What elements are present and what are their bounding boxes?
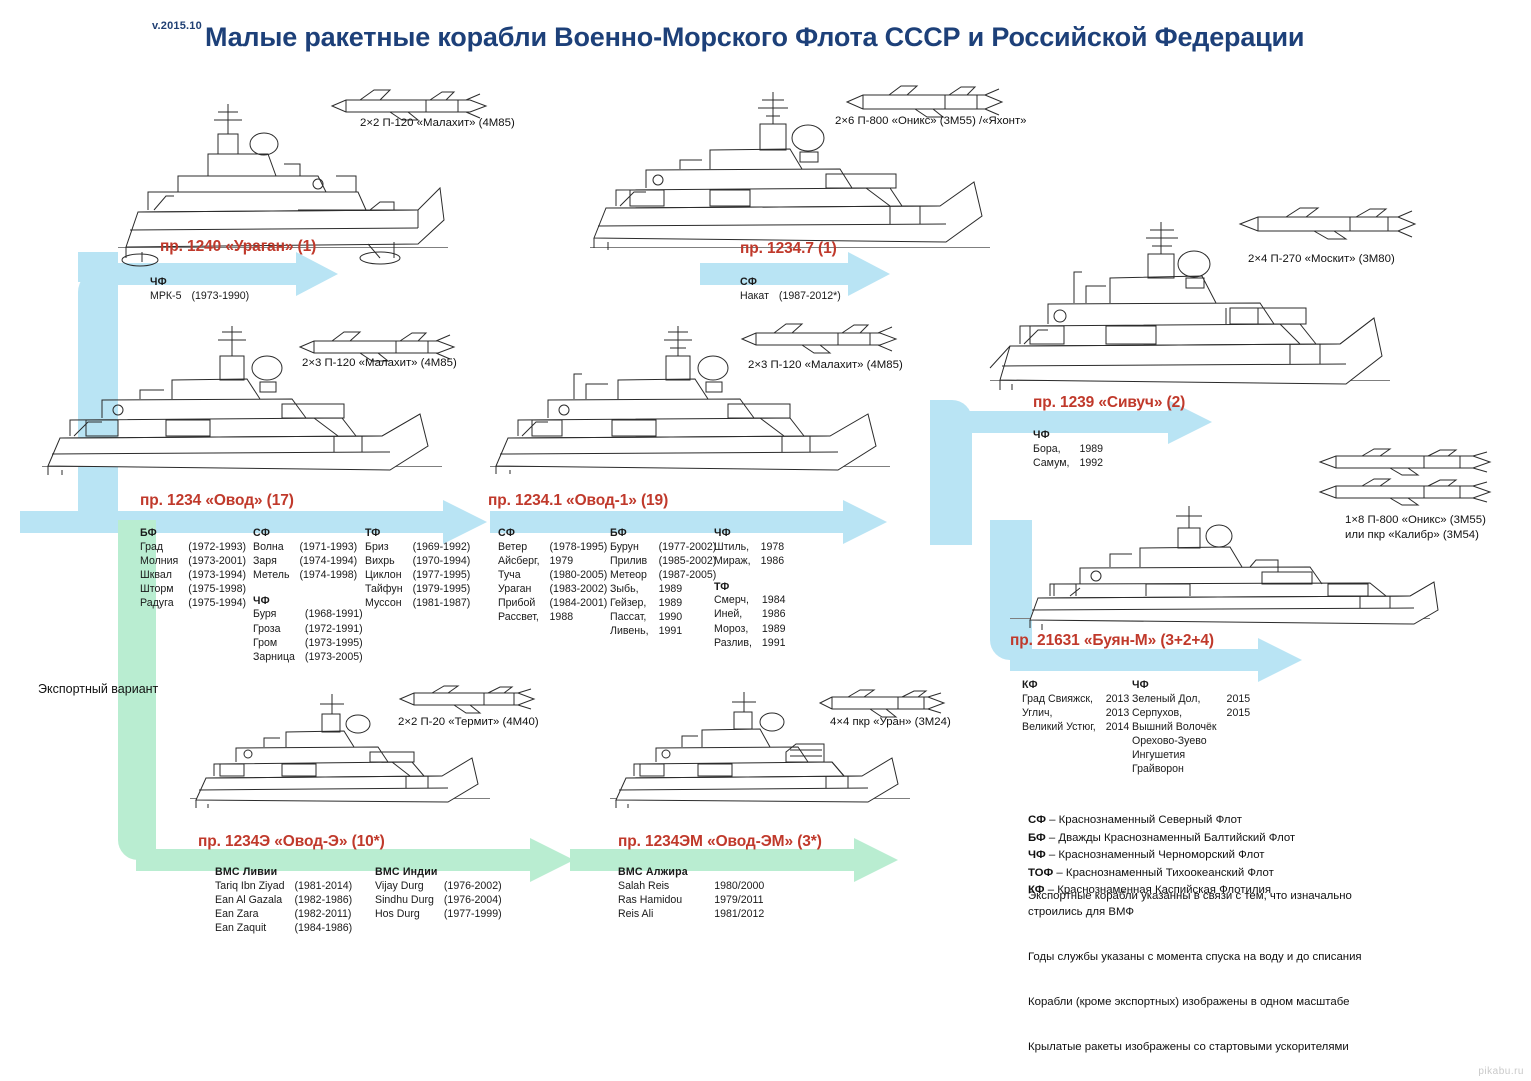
unit-name: Туча: [498, 569, 550, 583]
legend-row: ЧФ – Краснознаменный Черноморский Флот: [1028, 847, 1295, 865]
fleet-group: СФ Накат (1987-2012*): [740, 276, 841, 304]
unit-years: 1978: [761, 541, 785, 555]
unit-years: (1974-1994): [299, 555, 357, 569]
fleet-name: БФ: [610, 527, 714, 541]
unit-table: Буря(1968-1991) Гроза(1972-1991) Гром(19…: [253, 608, 363, 664]
unit-table: Град Свияжск,2013 Углич,2013 Великий Уст…: [1022, 693, 1129, 735]
unit-name: Рассвет,: [498, 611, 550, 625]
unit-years: 1989: [762, 623, 786, 637]
unit-name: Зеленый Дол,: [1132, 693, 1227, 707]
unit-name: Град: [140, 541, 188, 555]
fleet-name: СФ: [253, 527, 365, 541]
unit-name: Ливень,: [610, 625, 659, 639]
table-row: Вихрь(1970-1994): [365, 555, 470, 569]
unit-name: Sindhu Durg: [375, 894, 444, 908]
unit-years: 1981/2012: [714, 908, 764, 922]
fleet-column: СФ Ветер(1978-1995) Айсберг,1979 Туча(19…: [498, 527, 610, 651]
fleet-column: ЧФ Зеленый Дол,2015 Серпухов,2015 Вышний…: [1132, 679, 1242, 777]
project-label-1234-1: пр. 1234.1 «Овод-1» (19): [488, 492, 668, 510]
table-row: Тайфун(1979-1995): [365, 583, 470, 597]
fleet-table-1234em: ВМС Алжира Salah Reis1980/2000 Ras Hamid…: [618, 866, 764, 922]
unit-name: Метеор: [610, 569, 659, 583]
unit-years: (1984-2001): [550, 597, 608, 611]
table-row: Salah Reis1980/2000: [618, 880, 764, 894]
fleet-name: ЧФ: [1033, 429, 1103, 443]
unit-years: 1986: [762, 608, 786, 622]
unit-years: (1975-1998): [188, 583, 246, 597]
table-row: Шторм(1975-1998): [140, 583, 246, 597]
table-row: Ингушетия: [1132, 749, 1250, 763]
fleet-group: ЧФ Бора,1989 Самум,1992: [1033, 429, 1103, 471]
missile-icon-uran-1234em: [818, 688, 948, 718]
armament-label-1234: 2×3 П-120 «Малахит» (4М85): [302, 356, 457, 371]
table-row: Мороз,1989: [714, 623, 785, 637]
unit-name: Пассат,: [610, 611, 659, 625]
legend-row: ТОФ – Краснознаменный Тихоокеанский Флот: [1028, 865, 1295, 883]
fleet-table-1234-1: СФ Ветер(1978-1995) Айсберг,1979 Туча(19…: [498, 527, 814, 651]
page-title: Малые ракетные корабли Военно-Морского Ф…: [205, 22, 1304, 53]
fleet-group: ВМС Алжира Salah Reis1980/2000 Ras Hamid…: [618, 866, 764, 922]
missile-icon-p270-1239: [1238, 206, 1418, 240]
unit-name: Буря: [253, 608, 305, 622]
table-row: Ean Zaquit(1984-1986): [215, 922, 352, 936]
unit-years: (1978-1995): [550, 541, 608, 555]
table-row: Серпухов,2015: [1132, 707, 1250, 721]
unit-years: (1982-2011): [294, 908, 352, 922]
unit-years: (1976-2004): [444, 894, 502, 908]
legend-abbr: ТОФ: [1028, 867, 1053, 879]
table-row: Туча(1980-2005): [498, 569, 607, 583]
fleet-name: КФ: [1022, 679, 1132, 693]
missile-icon-p120-1234-1: [740, 322, 900, 354]
unit-name: Грайворон: [1132, 763, 1227, 777]
unit-name: Ean Zaquit: [215, 922, 294, 936]
legend-row: СФ – Краснознаменный Северный Флот: [1028, 812, 1295, 830]
export-variant-label: Экспортный вариант: [38, 682, 158, 696]
unit-years: 1989: [1079, 443, 1103, 457]
unit-name: Иней,: [714, 608, 762, 622]
unit-years: 2015: [1227, 693, 1251, 707]
unit-years: 1992: [1079, 457, 1103, 471]
unit-name: Гроза: [253, 623, 305, 637]
unit-years: [1227, 749, 1251, 763]
unit-years: 1984: [762, 594, 786, 608]
table-row: Орехово-Зуево: [1132, 735, 1250, 749]
missile-icon-p20-1234e: [398, 684, 538, 714]
legend-abbr: ЧФ: [1028, 849, 1046, 861]
fleet-group: ЧФ МРК-5 (1973-1990): [150, 276, 249, 304]
project-label-1234em: пр. 1234ЭМ «Овод-ЭМ» (3*): [618, 833, 822, 851]
table-row: Бриз(1969-1992): [365, 541, 470, 555]
unit-years: [1227, 763, 1251, 777]
table-row: Шквал(1973-1994): [140, 569, 246, 583]
table-row: МРК-5 (1973-1990): [150, 290, 249, 304]
unit-years: (1980-2005): [550, 569, 608, 583]
project-label-21631: пр. 21631 «Буян-М» (3+2+4): [1010, 632, 1214, 650]
unit-years: 1991: [762, 637, 786, 651]
unit-years: (1971-1993): [299, 541, 357, 555]
unit-table: Vijay Durg(1976-2002) Sindhu Durg(1976-2…: [375, 880, 502, 922]
table-row: Заря(1974-1994): [253, 555, 357, 569]
unit-name: Гром: [253, 637, 305, 651]
unit-name: Гейзер,: [610, 597, 659, 611]
unit-name: Тайфун: [365, 583, 413, 597]
table-row: Ean Zara(1982-2011): [215, 908, 352, 922]
missile-icon-kalibr-bottom-21631: [1318, 478, 1493, 506]
table-row: Буря(1968-1991): [253, 608, 363, 622]
unit-years: (1973-1994): [188, 569, 246, 583]
table-row: Смерч,1984: [714, 594, 785, 608]
fleet-column: ВМС Индии Vijay Durg(1976-2002) Sindhu D…: [375, 866, 535, 936]
armament-label-21631: 1×8 П-800 «Оникс» (3М55) или пкр «Калибр…: [1345, 513, 1486, 542]
unit-years: (1973-2001): [188, 555, 246, 569]
table-row: Метеор(1987-2005): [610, 569, 716, 583]
unit-name: Волна: [253, 541, 299, 555]
table-row: Гром(1973-1995): [253, 637, 363, 651]
unit-table: МРК-5 (1973-1990): [150, 290, 249, 304]
table-row: Мираж,1986: [714, 555, 784, 569]
table-row: Вышний Волочёк: [1132, 721, 1250, 735]
table-row: Зеленый Дол,2015: [1132, 693, 1250, 707]
table-row: Град(1972-1993): [140, 541, 246, 555]
unit-name: Прилив: [610, 555, 659, 569]
poster-canvas: v.2015.10 Малые ракетные корабли Военно-…: [0, 0, 1531, 1081]
project-label-1239: пр. 1239 «Сивуч» (2): [1033, 394, 1185, 412]
table-row: Волна(1971-1993): [253, 541, 357, 555]
unit-years: 2014: [1106, 721, 1130, 735]
fleet-name: ЧФ: [150, 276, 249, 290]
note-item: Крылатые ракеты изображены со стартовыми…: [1028, 1039, 1383, 1055]
missile-icon-kalibr-top-21631: [1318, 448, 1493, 476]
unit-years: (1983-2002): [550, 583, 608, 597]
table-row: Штиль,1978: [714, 541, 784, 555]
unit-table: Salah Reis1980/2000 Ras Hamidou1979/2011…: [618, 880, 764, 922]
fleet-column: КФ Град Свияжск,2013 Углич,2013 Великий …: [1022, 679, 1132, 777]
unit-table: Бриз(1969-1992) Вихрь(1970-1994) Циклон(…: [365, 541, 470, 611]
unit-name: Углич,: [1022, 707, 1106, 721]
unit-years: 1979: [550, 555, 608, 569]
unit-name: Орехово-Зуево: [1132, 735, 1227, 749]
table-row: Ean Al Gazala(1982-1986): [215, 894, 352, 908]
table-row: Рассвет,1988: [498, 611, 607, 625]
unit-years: (1969-1992): [413, 541, 471, 555]
fleet-table-1240: ЧФ МРК-5 (1973-1990): [150, 276, 249, 304]
table-row: Циклон(1977-1995): [365, 569, 470, 583]
fleet-table-1239: ЧФ Бора,1989 Самум,1992: [1033, 429, 1103, 471]
fleet-name: БФ: [140, 527, 253, 541]
table-row: Грайворон: [1132, 763, 1250, 777]
unit-name: Радуга: [140, 597, 188, 611]
unit-name: Vijay Durg: [375, 880, 444, 894]
fleet-table-1234-7: СФ Накат (1987-2012*): [740, 276, 841, 304]
unit-years: [1227, 721, 1251, 735]
legend-abbr: БФ: [1028, 832, 1046, 844]
table-row: Бора,1989: [1033, 443, 1103, 457]
unit-name: Salah Reis: [618, 880, 714, 894]
unit-years: 1986: [761, 555, 785, 569]
armament-label-1234e: 2×2 П-20 «Термит» (4М40): [398, 715, 539, 730]
unit-years: (1987-2012*): [779, 290, 841, 304]
unit-years: 2013: [1106, 707, 1130, 721]
unit-years: (1977-1995): [413, 569, 471, 583]
unit-name: Молния: [140, 555, 188, 569]
table-row: Иней,1986: [714, 608, 785, 622]
unit-name: Reis Ali: [618, 908, 714, 922]
unit-table: Смерч,1984 Иней,1986 Мороз,1989 Разлив,1…: [714, 594, 785, 650]
fleet-name: ЧФ: [253, 595, 365, 609]
table-row: Ураган(1983-2002): [498, 583, 607, 597]
unit-table: Волна(1971-1993) Заря(1974-1994) Метель(…: [253, 541, 357, 583]
unit-years: 1989: [659, 583, 717, 597]
project-label-1234-7: пр. 1234.7 (1): [740, 240, 837, 258]
fleet-name: ВМС Алжира: [618, 866, 764, 880]
unit-table: Зеленый Дол,2015 Серпухов,2015 Вышний Во…: [1132, 693, 1250, 778]
table-row: Reis Ali1981/2012: [618, 908, 764, 922]
unit-name: Прибой: [498, 597, 550, 611]
unit-name: Мороз,: [714, 623, 762, 637]
unit-table: Накат (1987-2012*): [740, 290, 841, 304]
fleet-name: ТФ: [365, 527, 475, 541]
unit-name: Разлив,: [714, 637, 762, 651]
unit-years: 1979/2011: [714, 894, 764, 908]
unit-name: Накат: [740, 290, 779, 304]
table-row: Гейзер,1989: [610, 597, 716, 611]
project-label-1234e: пр. 1234Э «Овод-Э» (10*): [198, 833, 385, 851]
unit-name: Самум,: [1033, 457, 1079, 471]
project-label-1240: пр. 1240 «Ураган» (1): [160, 238, 316, 256]
unit-years: (1981-1987): [413, 597, 471, 611]
unit-name: Ингушетия: [1132, 749, 1227, 763]
unit-name: Град Свияжск,: [1022, 693, 1106, 707]
unit-years: (1979-1995): [413, 583, 471, 597]
unit-years: 1980/2000: [714, 880, 764, 894]
unit-years: [1227, 735, 1251, 749]
armament-label-1239: 2×4 П-270 «Москит» (3М80): [1248, 252, 1395, 267]
armament-label-1234-7: 2×6 П-800 «Оникс» (3М55) /«Яхонт»: [835, 114, 1027, 129]
fleet-column: БФ Бурун(1977-2002) Прилив(1985-2002) Ме…: [610, 527, 714, 651]
table-row: Молния(1973-2001): [140, 555, 246, 569]
armament-line-2: или пкр «Калибр» (3М54): [1345, 528, 1486, 543]
table-row: Зыбь,1989: [610, 583, 716, 597]
table-row: Vijay Durg(1976-2002): [375, 880, 502, 894]
table-row: Бурун(1977-2002): [610, 541, 716, 555]
ship-drawing-1239: [990, 218, 1390, 390]
armament-line-1: 1×8 П-800 «Оникс» (3М55): [1345, 513, 1486, 528]
unit-name: Зыбь,: [610, 583, 659, 597]
armament-label-1234em: 4×4 пкр «Уран» (3М24): [830, 715, 951, 730]
note-item: Годы службы указаны с момента спуска на …: [1028, 949, 1383, 965]
table-row: Ras Hamidou1979/2011: [618, 894, 764, 908]
unit-name: Зарница: [253, 651, 305, 665]
table-row: Ливень,1991: [610, 625, 716, 639]
table-row: Метель(1974-1998): [253, 569, 357, 583]
table-row: Гроза(1972-1991): [253, 623, 363, 637]
unit-name: Смерч,: [714, 594, 762, 608]
unit-years: (1973-2005): [305, 651, 363, 665]
table-row: Прибой(1984-2001): [498, 597, 607, 611]
note-item: Экспортные корабли указанны в связи с те…: [1028, 888, 1383, 920]
unit-name: Ветер: [498, 541, 550, 555]
unit-years: (1970-1994): [413, 555, 471, 569]
armament-label-1234-1: 2×3 П-120 «Малахит» (4М85): [748, 358, 903, 373]
unit-years: (1987-2005): [659, 569, 717, 583]
table-row: Ветер(1978-1995): [498, 541, 607, 555]
unit-years: (1984-1986): [294, 922, 352, 936]
unit-years: (1974-1998): [299, 569, 357, 583]
fleet-column: ЧФ Штиль,1978 Мираж,1986 ТФ Смерч,1984 И…: [714, 527, 814, 651]
unit-years: 2013: [1106, 693, 1130, 707]
unit-years: (1972-1991): [305, 623, 363, 637]
fleet-name: ЧФ: [1132, 679, 1242, 693]
unit-table: Бора,1989 Самум,1992: [1033, 443, 1103, 471]
unit-name: Ураган: [498, 583, 550, 597]
fleet-column: ТФ Бриз(1969-1992) Вихрь(1970-1994) Цикл…: [365, 527, 475, 665]
table-row: Разлив,1991: [714, 637, 785, 651]
fleet-table-21631: КФ Град Свияжск,2013 Углич,2013 Великий …: [1022, 679, 1242, 777]
unit-years: (1982-1986): [294, 894, 352, 908]
missile-icon-p800-1234-7: [845, 84, 1005, 118]
unit-name: Бора,: [1033, 443, 1079, 457]
unit-years: (1973-1995): [305, 637, 363, 651]
table-row: Накат (1987-2012*): [740, 290, 841, 304]
legend-text: – Краснознаменный Тихоокеанский Флот: [1053, 867, 1274, 879]
fleet-table-1234e: ВМС Ливии Tariq Ibn Ziyad(1981-2014) Ean…: [215, 866, 535, 936]
table-row: Зарница(1973-2005): [253, 651, 363, 665]
project-label-1234: пр. 1234 «Овод» (17): [140, 492, 294, 510]
unit-years: 1990: [659, 611, 717, 625]
unit-years: (1985-2002): [659, 555, 717, 569]
unit-years: 1989: [659, 597, 717, 611]
table-row: Самум,1992: [1033, 457, 1103, 471]
unit-years: (1975-1994): [188, 597, 246, 611]
unit-years: (1977-2002): [659, 541, 717, 555]
fleet-name: СФ: [740, 276, 841, 290]
unit-name: Вышний Волочёк: [1132, 721, 1227, 735]
unit-name: Шквал: [140, 569, 188, 583]
fleet-column: СФ Волна(1971-1993) Заря(1974-1994) Мете…: [253, 527, 365, 665]
table-row: Hos Durg(1977-1999): [375, 908, 502, 922]
legend-text: – Краснознаменный Северный Флот: [1046, 814, 1242, 826]
unit-name: Мираж,: [714, 555, 761, 569]
legend-text: – Краснознаменный Черноморский Флот: [1046, 849, 1265, 861]
legend-text: – Дважды Краснознаменный Балтийский Флот: [1046, 832, 1295, 844]
unit-name: Метель: [253, 569, 299, 583]
fleet-abbreviation-legend: СФ – Краснознаменный Северный Флот БФ – …: [1028, 812, 1295, 900]
unit-table: Ветер(1978-1995) Айсберг,1979 Туча(1980-…: [498, 541, 607, 626]
unit-table: Штиль,1978 Мираж,1986: [714, 541, 784, 569]
table-row: Sindhu Durg(1976-2004): [375, 894, 502, 908]
unit-years: 2015: [1227, 707, 1251, 721]
table-row: Пассат,1990: [610, 611, 716, 625]
unit-years: (1968-1991): [305, 608, 363, 622]
unit-name: Серпухов,: [1132, 707, 1227, 721]
unit-years: (1972-1993): [188, 541, 246, 555]
unit-years: 1988: [550, 611, 608, 625]
unit-name: Вихрь: [365, 555, 413, 569]
unit-name: Заря: [253, 555, 299, 569]
unit-years: (1973-1990): [191, 290, 249, 304]
unit-name: Бурун: [610, 541, 659, 555]
table-row: Айсберг,1979: [498, 555, 607, 569]
unit-years: (1981-2014): [294, 880, 352, 894]
fleet-name: СФ: [498, 527, 610, 541]
fleet-name: ТФ: [714, 581, 814, 595]
table-row: Прилив(1985-2002): [610, 555, 716, 569]
unit-table: Tariq Ibn Ziyad(1981-2014) Ean Al Gazala…: [215, 880, 352, 936]
table-row: Углич,2013: [1022, 707, 1129, 721]
unit-name: Hos Durg: [375, 908, 444, 922]
unit-table: Град(1972-1993) Молния(1973-2001) Шквал(…: [140, 541, 246, 611]
unit-name: Муссон: [365, 597, 413, 611]
fleet-table-1234: БФ Град(1972-1993) Молния(1973-2001) Шкв…: [140, 527, 475, 665]
table-row: Муссон(1981-1987): [365, 597, 470, 611]
legend-abbr: СФ: [1028, 814, 1046, 826]
unit-years: (1976-2002): [444, 880, 502, 894]
unit-name: Tariq Ibn Ziyad: [215, 880, 294, 894]
fleet-name: ЧФ: [714, 527, 814, 541]
unit-name: Бриз: [365, 541, 413, 555]
table-row: Радуга(1975-1994): [140, 597, 246, 611]
unit-name: Шторм: [140, 583, 188, 597]
unit-table: Бурун(1977-2002) Прилив(1985-2002) Метео…: [610, 541, 716, 640]
fleet-column: ВМС Ливии Tariq Ibn Ziyad(1981-2014) Ean…: [215, 866, 375, 936]
table-row: Град Свияжск,2013: [1022, 693, 1129, 707]
unit-name: Ean Al Gazala: [215, 894, 294, 908]
legend-row: БФ – Дважды Краснознаменный Балтийский Ф…: [1028, 830, 1295, 848]
unit-name: Айсберг,: [498, 555, 550, 569]
unit-name: Штиль,: [714, 541, 761, 555]
note-item: Корабли (кроме экспортных) изображены в …: [1028, 994, 1383, 1010]
unit-name: Великий Устюг,: [1022, 721, 1106, 735]
watermark: pikabu.ru: [1478, 1066, 1524, 1077]
armament-label-1240: 2×2 П-120 «Малахит» (4М85): [360, 116, 515, 131]
unit-name: Циклон: [365, 569, 413, 583]
table-row: Tariq Ibn Ziyad(1981-2014): [215, 880, 352, 894]
table-row: Великий Устюг,2014: [1022, 721, 1129, 735]
unit-years: (1977-1999): [444, 908, 502, 922]
fleet-name: ВМС Ливии: [215, 866, 375, 880]
fleet-name: ВМС Индии: [375, 866, 535, 880]
unit-name: Ras Hamidou: [618, 894, 714, 908]
unit-years: 1991: [659, 625, 717, 639]
fleet-column: БФ Град(1972-1993) Молния(1973-2001) Шкв…: [140, 527, 253, 665]
unit-name: МРК-5: [150, 290, 191, 304]
notes-block: Экспортные корабли указанны в связи с те…: [1028, 888, 1383, 1081]
unit-name: Ean Zara: [215, 908, 294, 922]
version-label: v.2015.10: [152, 20, 202, 32]
